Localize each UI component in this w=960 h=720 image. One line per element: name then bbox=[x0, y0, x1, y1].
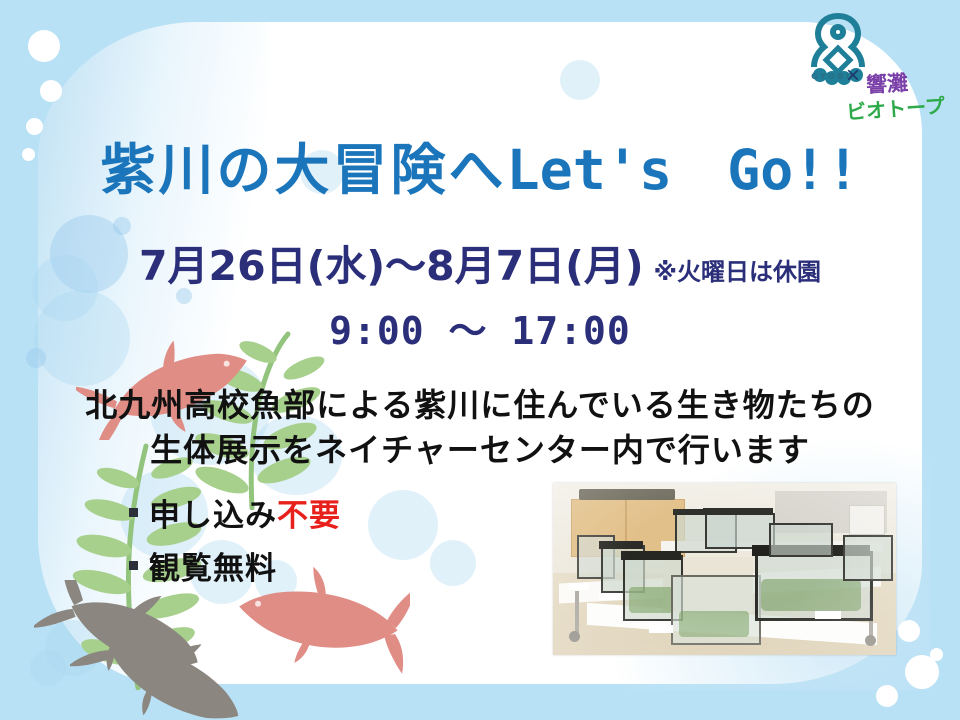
water-bubble-13 bbox=[30, 650, 66, 686]
photo-soft-overlay bbox=[553, 483, 896, 655]
water-bubble-17 bbox=[560, 60, 600, 100]
bullet-marker-icon bbox=[130, 509, 137, 516]
water-bubble-15 bbox=[430, 540, 476, 586]
page-title: 紫川の大冒険へLet's Go!! bbox=[0, 125, 960, 205]
logo-cross-separator: × bbox=[846, 62, 860, 90]
biotope-logo-text: ビオトープ bbox=[845, 90, 946, 126]
event-date-note: ※火曜日は休園 bbox=[654, 258, 821, 286]
exhibit-photo bbox=[553, 483, 896, 655]
water-bubble-14 bbox=[368, 490, 438, 560]
poster-canvas: GYOBU × 響灘 ビオトープ 紫川の大冒険へLet's Go!! 7月26日… bbox=[0, 0, 960, 720]
list-item: 申し込み不要 bbox=[130, 490, 341, 535]
event-description-line-1: 北九州高校魚部による紫川に住んでいる生き物たちの bbox=[0, 380, 960, 426]
note-admission: 観覧無料 bbox=[149, 543, 277, 588]
note-application-highlight: 不要 bbox=[277, 498, 341, 534]
border-bubble-2 bbox=[40, 80, 62, 102]
border-bubble-5 bbox=[898, 620, 920, 642]
page-title-jp: 紫川の大冒険へ bbox=[100, 138, 506, 202]
list-item: 観覧無料 bbox=[130, 543, 341, 588]
event-description-line-2: 生体展示をネイチャーセンター内で行います bbox=[0, 425, 960, 471]
event-time: 9:00 〜 17:00 bbox=[0, 300, 960, 355]
event-date-line: 7月26日(水)〜8月7日(月)※火曜日は休園 bbox=[0, 232, 960, 292]
page-title-en: Let's Go!! bbox=[507, 138, 860, 202]
gyobu-logo-label: GYOBU bbox=[792, 72, 874, 81]
event-notes-list: 申し込み不要 観覧無料 bbox=[130, 490, 341, 596]
bullet-marker-icon bbox=[130, 562, 137, 569]
border-bubble-1 bbox=[28, 30, 60, 62]
border-bubble-8 bbox=[876, 685, 898, 707]
note-application: 申し込み不要 bbox=[149, 490, 341, 535]
note-application-text: 申し込み bbox=[149, 498, 277, 534]
event-date: 7月26日(水)〜8月7日(月) bbox=[139, 242, 644, 290]
logo-block: GYOBU × 響灘 ビオトープ bbox=[782, 8, 957, 140]
border-bubble-7 bbox=[905, 655, 939, 689]
